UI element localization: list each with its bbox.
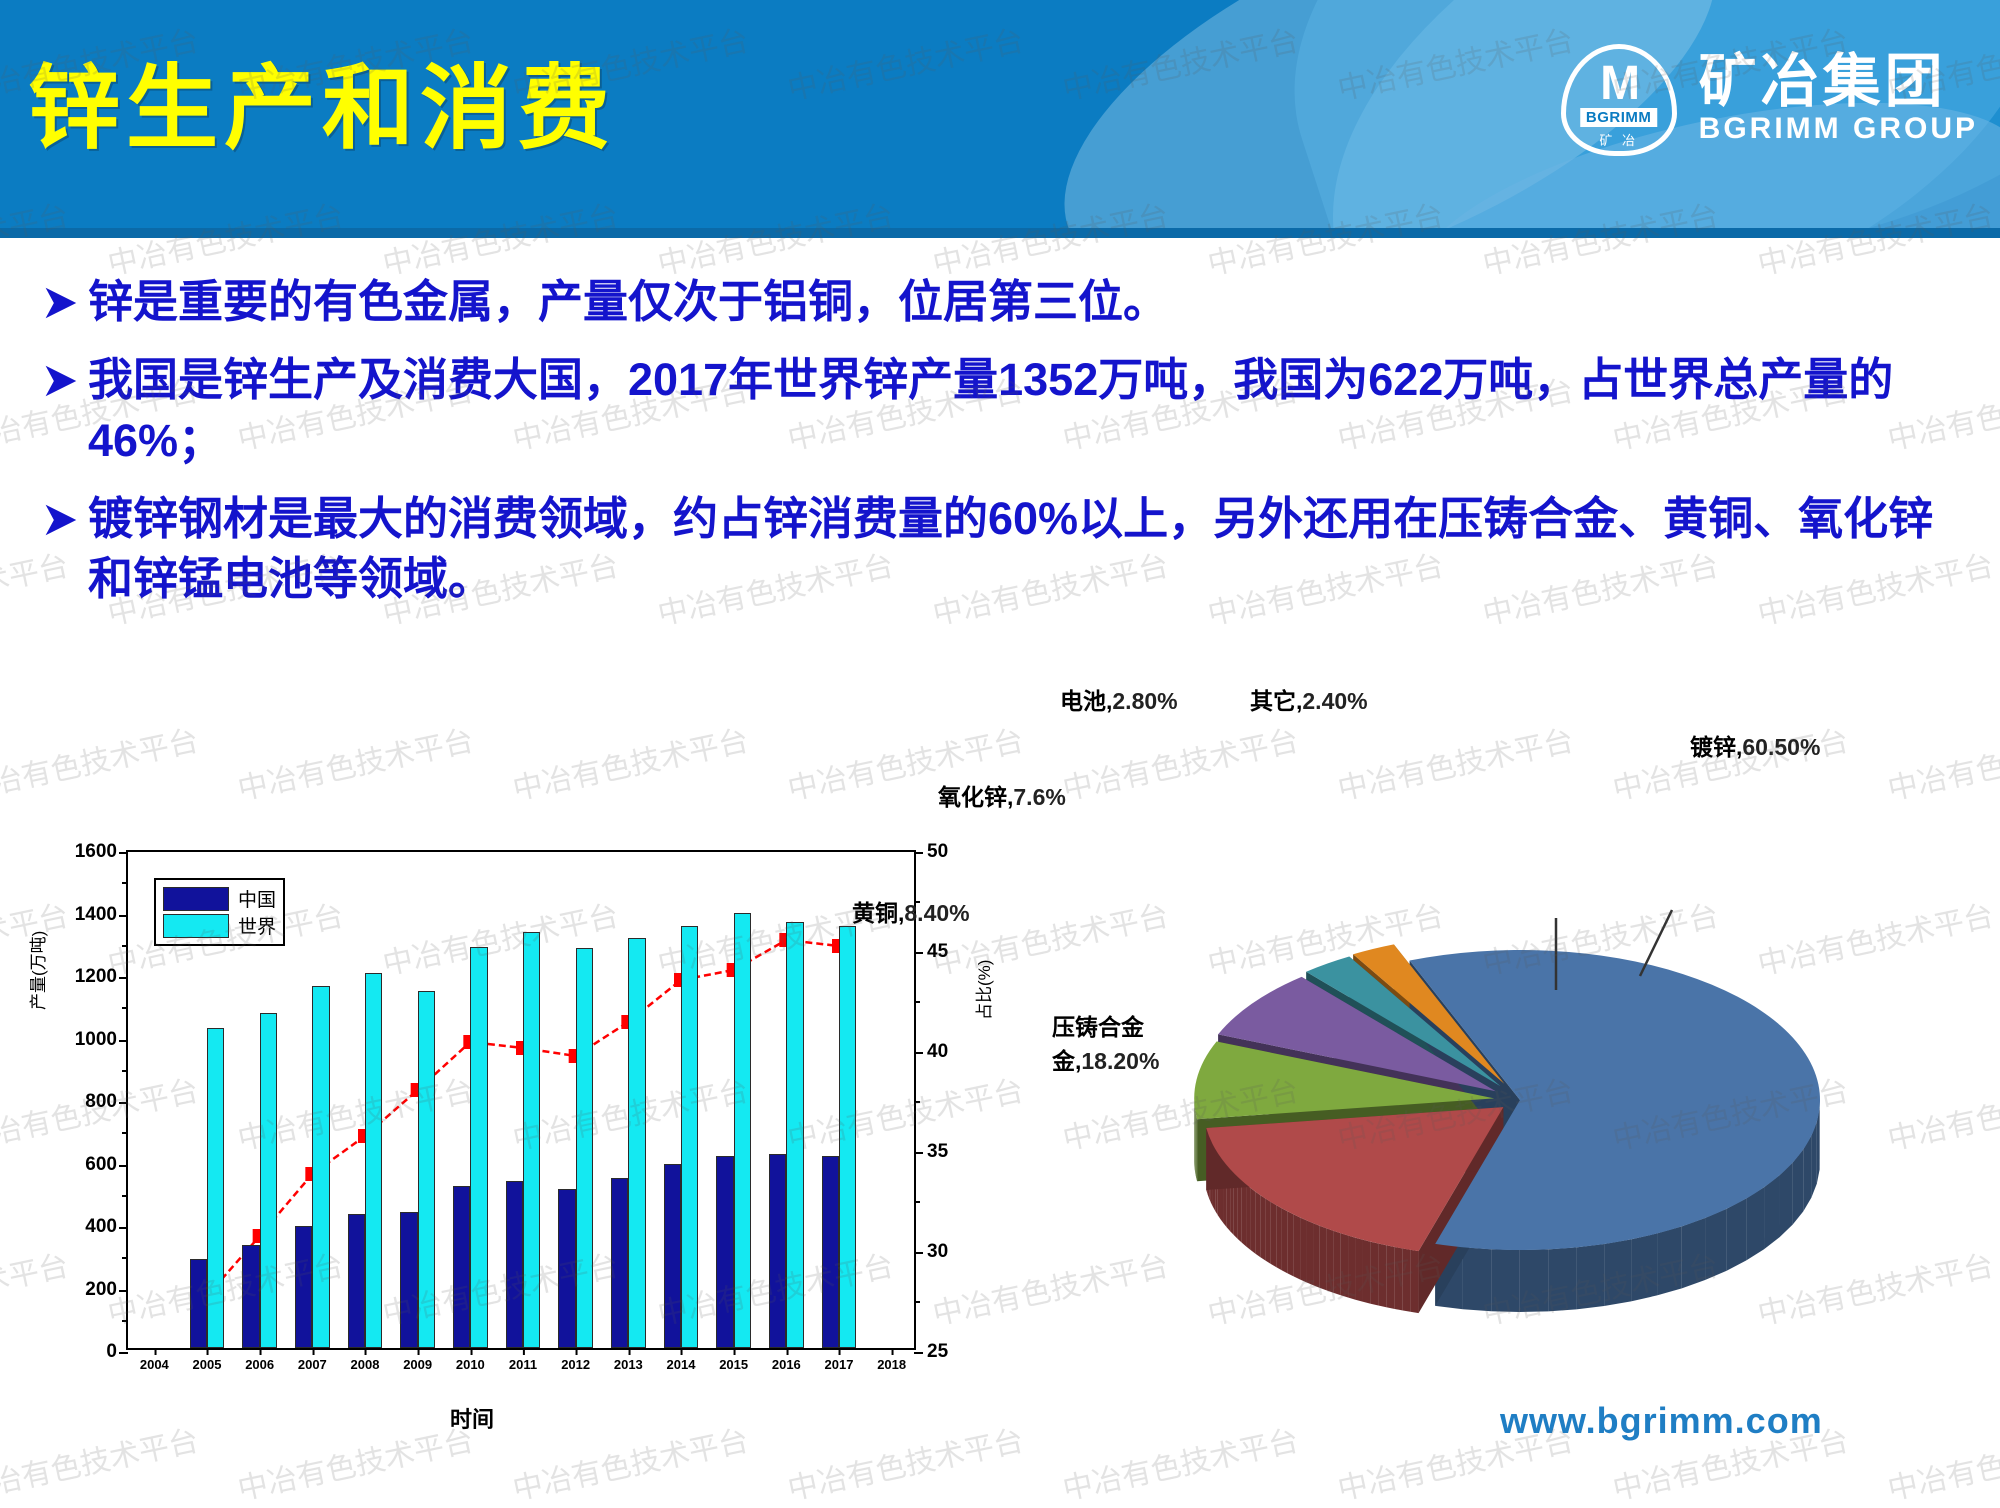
- watermark-text: 中冶有色技术平台: [0, 716, 202, 809]
- pie-label-battery: 电池,2.80%: [1060, 682, 1178, 716]
- list-item: 锌是重要的有色金属，产量仅次于铝铜，位居第三位。: [44, 272, 1964, 332]
- pie-leader-line: [1640, 910, 1672, 976]
- bar-world: [418, 991, 435, 1348]
- pie-slice-side: [1682, 1218, 1705, 1288]
- bar-world: [365, 973, 382, 1348]
- bar-china: [611, 1178, 628, 1348]
- logo-name-en: BGRIMM GROUP: [1699, 111, 1978, 147]
- y-axis-tick: 0: [106, 1341, 128, 1363]
- bar-world: [576, 948, 593, 1348]
- pie-slice-side: [1327, 1228, 1334, 1292]
- arrow-bullet-icon: [44, 489, 88, 537]
- logo-m-glyph: M: [1600, 60, 1637, 108]
- y-axis-minor-tick: [122, 1195, 128, 1197]
- y-axis-minor-tick: [122, 1257, 128, 1259]
- bar-china: [453, 1186, 470, 1349]
- pie-slice-side: [1197, 1117, 1198, 1181]
- watermark-text: 中冶有色技术平台: [1058, 1416, 1302, 1508]
- secondary-y-axis-tick: 25: [914, 1341, 948, 1363]
- bar-world: [523, 932, 540, 1348]
- x-axis-tick: 2006: [245, 1348, 274, 1372]
- watermark-text: 中冶有色技术平台: [1883, 1416, 2000, 1508]
- pie-slice-side: [1631, 1233, 1657, 1301]
- pie-label-galvanizing: 镀锌,60.50%: [1690, 728, 1820, 762]
- pie-slice-side: [1410, 1250, 1418, 1313]
- y-axis-minor-tick: [122, 1320, 128, 1322]
- x-axis-tick: 2007: [298, 1348, 327, 1372]
- watermark-text: 中冶有色技术平台: [1333, 716, 1577, 809]
- pie-slice-side: [1313, 1223, 1320, 1288]
- pie-slice-side: [1320, 1226, 1327, 1291]
- bar-world: [207, 1028, 224, 1348]
- bar-world: [839, 926, 856, 1349]
- logo-name-cn: 矿冶集团: [1699, 53, 1978, 111]
- pie-slice-side: [1334, 1231, 1341, 1295]
- bar-china: [348, 1214, 365, 1348]
- pie-label-zinc-oxide: 氧化锌,7.6%: [938, 778, 1066, 812]
- pie-slice-side: [1341, 1233, 1348, 1297]
- bar-china: [822, 1156, 839, 1348]
- secondary-y-axis-tick: 35: [914, 1141, 948, 1163]
- x-axis-tick: 2004: [140, 1348, 169, 1372]
- pie-slice-side: [1300, 1218, 1306, 1283]
- bullet-list: 锌是重要的有色金属，产量仅次于铝铜，位居第三位。 我国是锌生产及消费大国，201…: [44, 272, 1964, 627]
- watermark-text: 中冶有色技术平台: [508, 716, 752, 809]
- y-axis-minor-tick: [122, 1132, 128, 1134]
- legend-swatch-world: [163, 914, 229, 938]
- pie-slice-side: [1306, 1220, 1313, 1285]
- pie-slice-side: [1548, 1247, 1576, 1311]
- y-axis-tick: 200: [85, 1279, 128, 1301]
- zinc-production-chart: 产量(万吨) 占比(%) 时间 中国 世界 020040060080010001…: [30, 840, 990, 1440]
- bar-china: [558, 1189, 575, 1348]
- pie-slice-side: [1463, 1247, 1491, 1311]
- list-item: 镀锌钢材是最大的消费领域，约占锌消费量的60%以上，另外还用在压铸合金、黄铜、氧…: [44, 489, 1964, 610]
- x-axis-tick: 2005: [193, 1348, 222, 1372]
- secondary-y-axis-minor-tick: [914, 1301, 920, 1303]
- pie-slice-side: [1255, 1192, 1260, 1258]
- pie-slice-side: [1363, 1240, 1371, 1304]
- x-axis-tick: 2015: [719, 1348, 748, 1372]
- x-axis-tick: 2018: [877, 1348, 906, 1372]
- pie-slice-side: [1276, 1205, 1282, 1270]
- logo-kuangye-text: 矿 冶: [1599, 130, 1638, 149]
- legend-label-china: 中国: [238, 885, 276, 912]
- watermark-text: 中冶有色技术平台: [233, 716, 477, 809]
- pie-slice-side: [1260, 1195, 1265, 1260]
- y-axis-tick: 800: [85, 1091, 128, 1113]
- pie-slice-side: [1288, 1212, 1294, 1277]
- list-item: 我国是锌生产及消费大国，2017年世界锌产量1352万吨，我国为622万吨，占世…: [44, 350, 1964, 471]
- pie-label-brass: 黄铜,8.40%: [852, 894, 970, 928]
- pie-slice-side: [1371, 1242, 1379, 1306]
- secondary-y-axis-label: 占比(%): [970, 960, 995, 1020]
- y-axis-tick: 1400: [75, 904, 128, 926]
- pie-slice-side: [1265, 1199, 1270, 1264]
- bar-world: [312, 986, 329, 1348]
- x-axis-tick: 2017: [825, 1348, 854, 1372]
- pie-slice-side: [1246, 1184, 1251, 1250]
- bar-world: [786, 922, 803, 1348]
- arrow-bullet-icon: [44, 350, 88, 398]
- x-axis-tick: 2010: [456, 1348, 485, 1372]
- secondary-y-axis-tick: 30: [914, 1241, 948, 1263]
- pie-slice-side: [1378, 1244, 1386, 1308]
- pie-slice-side: [1251, 1188, 1256, 1254]
- bgrimm-shield-icon: M BGRIMM 矿 冶: [1557, 38, 1681, 162]
- x-axis-tick: 2008: [351, 1348, 380, 1372]
- bar-world: [681, 926, 698, 1348]
- secondary-y-axis-minor-tick: [914, 1201, 920, 1203]
- legend-item-china: 中国: [163, 885, 276, 912]
- y-axis-label: 产量(万吨): [24, 931, 49, 1010]
- bar-china: [664, 1164, 681, 1348]
- watermark-text: 中冶有色技术平台: [1058, 716, 1302, 809]
- pie-slice-side: [1394, 1247, 1402, 1311]
- pie-graphic: [1000, 800, 2000, 1420]
- page-title: 锌生产和消费: [28, 34, 616, 167]
- bar-world: [260, 1013, 277, 1348]
- x-axis-tick: 2013: [614, 1348, 643, 1372]
- pie-label-other: 其它,2.40%: [1250, 682, 1368, 716]
- legend-item-world: 世界: [163, 912, 276, 939]
- pie-slice-side: [1402, 1248, 1410, 1311]
- bar-china: [716, 1156, 733, 1348]
- secondary-y-axis-minor-tick: [914, 1001, 920, 1003]
- bar-world: [734, 913, 751, 1348]
- bar-china: [769, 1154, 786, 1348]
- y-axis-tick: 1600: [75, 841, 128, 863]
- bar-china: [506, 1181, 523, 1348]
- y-axis-minor-tick: [122, 945, 128, 947]
- pie-label-diecast: 压铸合金 金,18.20%: [1052, 1008, 1252, 1076]
- pie-slice-side: [1242, 1181, 1246, 1247]
- pie-slice-side: [1727, 1198, 1747, 1270]
- chart-legend: 中国 世界: [154, 878, 285, 946]
- x-axis-tick: 2012: [561, 1348, 590, 1372]
- pie-slice-side: [1764, 1175, 1779, 1249]
- x-axis-label: 时间: [450, 1402, 494, 1434]
- x-axis-tick: 2011: [509, 1348, 537, 1372]
- secondary-y-axis-tick: 45: [914, 941, 948, 963]
- pie-slice-side: [1282, 1208, 1288, 1273]
- pie-slice-side: [1604, 1239, 1631, 1306]
- pie-slice-side: [1348, 1236, 1355, 1300]
- bar-world: [470, 947, 487, 1348]
- pie-slice-side: [1294, 1215, 1300, 1280]
- bgrimm-logo: M BGRIMM 矿 冶 矿冶集团 BGRIMM GROUP: [1557, 38, 1978, 162]
- pie-slice-side: [1705, 1209, 1727, 1280]
- zinc-consumption-chart: 压铸合金 金,18.20% 黄铜,8.40% 氧化锌,7.6% 电池,2.80%…: [1000, 800, 2000, 1420]
- pie-slice-side: [1386, 1245, 1394, 1309]
- bullet-text: 锌是重要的有色金属，产量仅次于铝铜，位居第三位。: [88, 272, 1168, 332]
- pie-slice-side: [1746, 1187, 1764, 1260]
- pie-slice-side: [1520, 1249, 1548, 1312]
- legend-label-world: 世界: [238, 912, 276, 939]
- bar-world: [628, 938, 645, 1348]
- plot-area: 中国 世界 0200400600800100012001400160025303…: [126, 850, 916, 1350]
- bar-china: [242, 1245, 259, 1348]
- pie-slice-side: [1355, 1238, 1363, 1302]
- y-axis-tick: 600: [85, 1154, 128, 1176]
- bullet-text: 镀锌钢材是最大的消费领域，约占锌消费量的60%以上，另外还用在压铸合金、黄铜、氧…: [88, 489, 1964, 610]
- pie-slice-side: [1491, 1249, 1519, 1312]
- pie-slice-side: [1576, 1244, 1604, 1309]
- bullet-text: 我国是锌生产及消费大国，2017年世界锌产量1352万吨，我国为622万吨，占世…: [88, 350, 1964, 471]
- x-axis-tick: 2014: [667, 1348, 696, 1372]
- pie-slice-side: [1780, 1163, 1793, 1238]
- arrow-bullet-icon: [44, 272, 88, 320]
- pie-slice-side: [1657, 1226, 1682, 1295]
- secondary-y-axis-minor-tick: [914, 1101, 920, 1103]
- secondary-y-axis-tick: 40: [914, 1041, 948, 1063]
- bar-china: [400, 1212, 417, 1348]
- y-axis-tick: 400: [85, 1216, 128, 1238]
- watermark-text: 中冶有色技术平台: [1883, 716, 2000, 809]
- footer-url[interactable]: www.bgrimm.com: [1500, 1400, 1823, 1442]
- y-axis-minor-tick: [122, 1007, 128, 1009]
- y-axis-tick: 1000: [75, 1029, 128, 1051]
- header-underline: [0, 228, 2000, 238]
- y-axis-minor-tick: [122, 1070, 128, 1072]
- logo-bgrimm-text: BGRIMM: [1580, 108, 1658, 127]
- bar-china: [295, 1226, 312, 1349]
- bar-china: [190, 1259, 207, 1348]
- x-axis-tick: 2016: [772, 1348, 801, 1372]
- x-axis-tick: 2009: [403, 1348, 432, 1372]
- y-axis-tick: 1200: [75, 966, 128, 988]
- y-axis-minor-tick: [122, 882, 128, 884]
- secondary-y-axis-tick: 50: [914, 841, 948, 863]
- pie-slice-side: [1271, 1202, 1277, 1267]
- legend-swatch-china: [163, 887, 229, 911]
